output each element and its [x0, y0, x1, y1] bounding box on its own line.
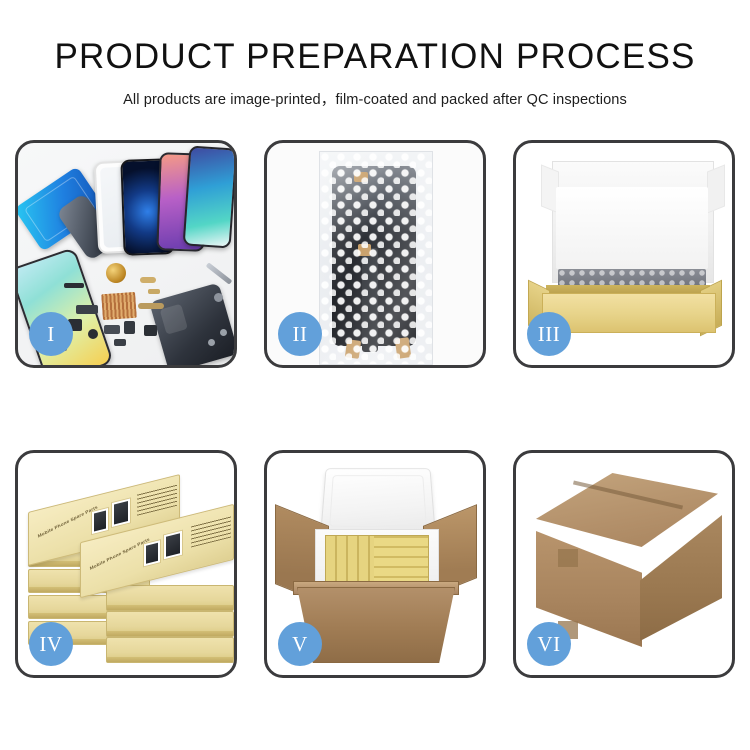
foam-sheet [556, 187, 708, 269]
box-label-text: Mobile Phone Spare Parts [37, 504, 98, 538]
box-spec-lines [137, 484, 177, 516]
step-badge-4: IV [29, 622, 73, 666]
step-panel-2: II [264, 140, 486, 368]
stacked-box [106, 611, 234, 637]
product-preparation-infographic: PRODUCT PREPARATION PROCESS All products… [0, 0, 750, 750]
process-steps-grid: I II [15, 140, 735, 678]
step-panel-3: III [513, 140, 735, 368]
box-label-text: Mobile Phone Spare Parts [89, 537, 150, 571]
box-window [111, 497, 131, 528]
step-panel-4: Mobile Phone Spare Parts Mobile Phone Sp… [15, 450, 237, 678]
box-window [163, 530, 183, 561]
phone-teal-curved [183, 145, 234, 248]
spare-part [76, 305, 98, 314]
spare-part [124, 321, 135, 334]
step-panel-6: VI [513, 450, 735, 678]
spare-part [88, 329, 98, 339]
stacked-box [106, 585, 234, 611]
step-badge-1: I [29, 312, 73, 356]
plastic-gloss [320, 152, 432, 364]
spare-part [138, 303, 164, 309]
carton-top-face [536, 473, 718, 547]
spare-part [220, 329, 227, 336]
screwdriver-tool [206, 262, 233, 284]
stacked-box [106, 637, 234, 663]
step-badge-5: V [278, 622, 322, 666]
box-window [91, 507, 109, 535]
step-panel-1: I [15, 140, 237, 368]
spare-part [64, 283, 84, 288]
bubble-wrap-bag [319, 151, 433, 365]
styrofoam-lid [320, 468, 436, 535]
spare-part [114, 339, 126, 346]
spare-part [208, 339, 215, 346]
page-title: PRODUCT PREPARATION PROCESS [0, 38, 750, 77]
step-panel-5: V [264, 450, 486, 678]
speaker-component [106, 263, 126, 283]
header: PRODUCT PREPARATION PROCESS All products… [0, 38, 750, 109]
step-badge-2: II [278, 312, 322, 356]
spare-part [148, 289, 160, 294]
carton-tape-patch [558, 549, 578, 567]
packed-yellow-boxes [325, 535, 429, 587]
spare-part [214, 293, 223, 302]
box-window [143, 539, 161, 567]
step-badge-6: VI [527, 622, 571, 666]
chip-component [101, 292, 137, 320]
spare-part [104, 325, 120, 334]
spare-part [140, 277, 156, 283]
spare-part [144, 325, 157, 336]
carton-front [297, 587, 455, 663]
page-subtitle: All products are image-printed，film-coat… [0, 88, 750, 109]
step-badge-3: III [527, 312, 571, 356]
box-spec-lines [191, 516, 231, 548]
